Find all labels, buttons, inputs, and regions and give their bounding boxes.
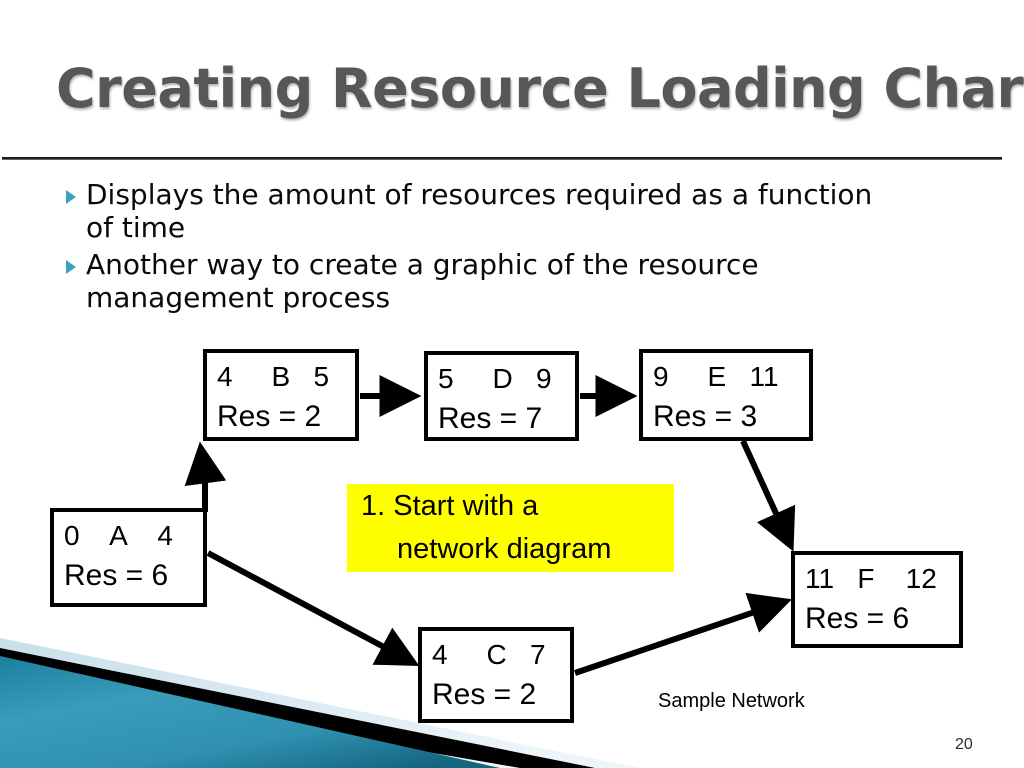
list-item: Another way to create a graphic of the r… bbox=[60, 248, 940, 314]
network-node-b: 4 B 5 Res = 2 bbox=[203, 349, 359, 441]
triangle-bullet-icon bbox=[60, 178, 86, 204]
slide-number: 20 bbox=[955, 736, 973, 754]
slide-canvas: Creating Resource Loading Charts Display… bbox=[0, 0, 1024, 768]
node-resource: Res = 6 bbox=[805, 599, 959, 639]
network-node-d: 5 D 9 Res = 7 bbox=[424, 351, 579, 441]
edge-a-to-b bbox=[201, 450, 205, 512]
list-item: Displays the amount of resources require… bbox=[60, 178, 940, 244]
node-header: 11 F 12 bbox=[805, 559, 959, 599]
title-divider bbox=[2, 157, 1002, 160]
diagram-caption: Sample Network bbox=[658, 690, 805, 713]
corner-decoration-graphic bbox=[0, 608, 640, 768]
node-header: 5 D 9 bbox=[438, 359, 575, 399]
callout-line-1: 1. Start with a bbox=[361, 490, 538, 522]
node-header: 9 E 11 bbox=[653, 357, 809, 397]
bullet-text: Displays the amount of resources require… bbox=[86, 178, 886, 244]
node-header: 4 B 5 bbox=[217, 357, 355, 397]
network-node-e: 9 E 11 Res = 3 bbox=[639, 349, 813, 441]
highlight-callout: 1. Start with a network diagram bbox=[347, 484, 674, 572]
bullet-list: Displays the amount of resources require… bbox=[60, 178, 940, 318]
node-resource: Res = 2 bbox=[217, 397, 355, 437]
callout-line-2: network diagram bbox=[361, 528, 674, 571]
page-title: Creating Resource Loading Charts bbox=[56, 44, 986, 134]
node-resource: Res = 7 bbox=[438, 399, 575, 439]
node-resource: Res = 6 bbox=[64, 556, 203, 596]
node-resource: Res = 3 bbox=[653, 397, 809, 437]
network-node-a: 0 A 4 Res = 6 bbox=[50, 508, 207, 607]
bullet-text: Another way to create a graphic of the r… bbox=[86, 248, 886, 314]
network-node-f: 11 F 12 Res = 6 bbox=[791, 551, 963, 648]
edge-e-to-f bbox=[743, 441, 790, 544]
triangle-bullet-icon bbox=[60, 248, 86, 274]
node-header: 0 A 4 bbox=[64, 516, 203, 556]
